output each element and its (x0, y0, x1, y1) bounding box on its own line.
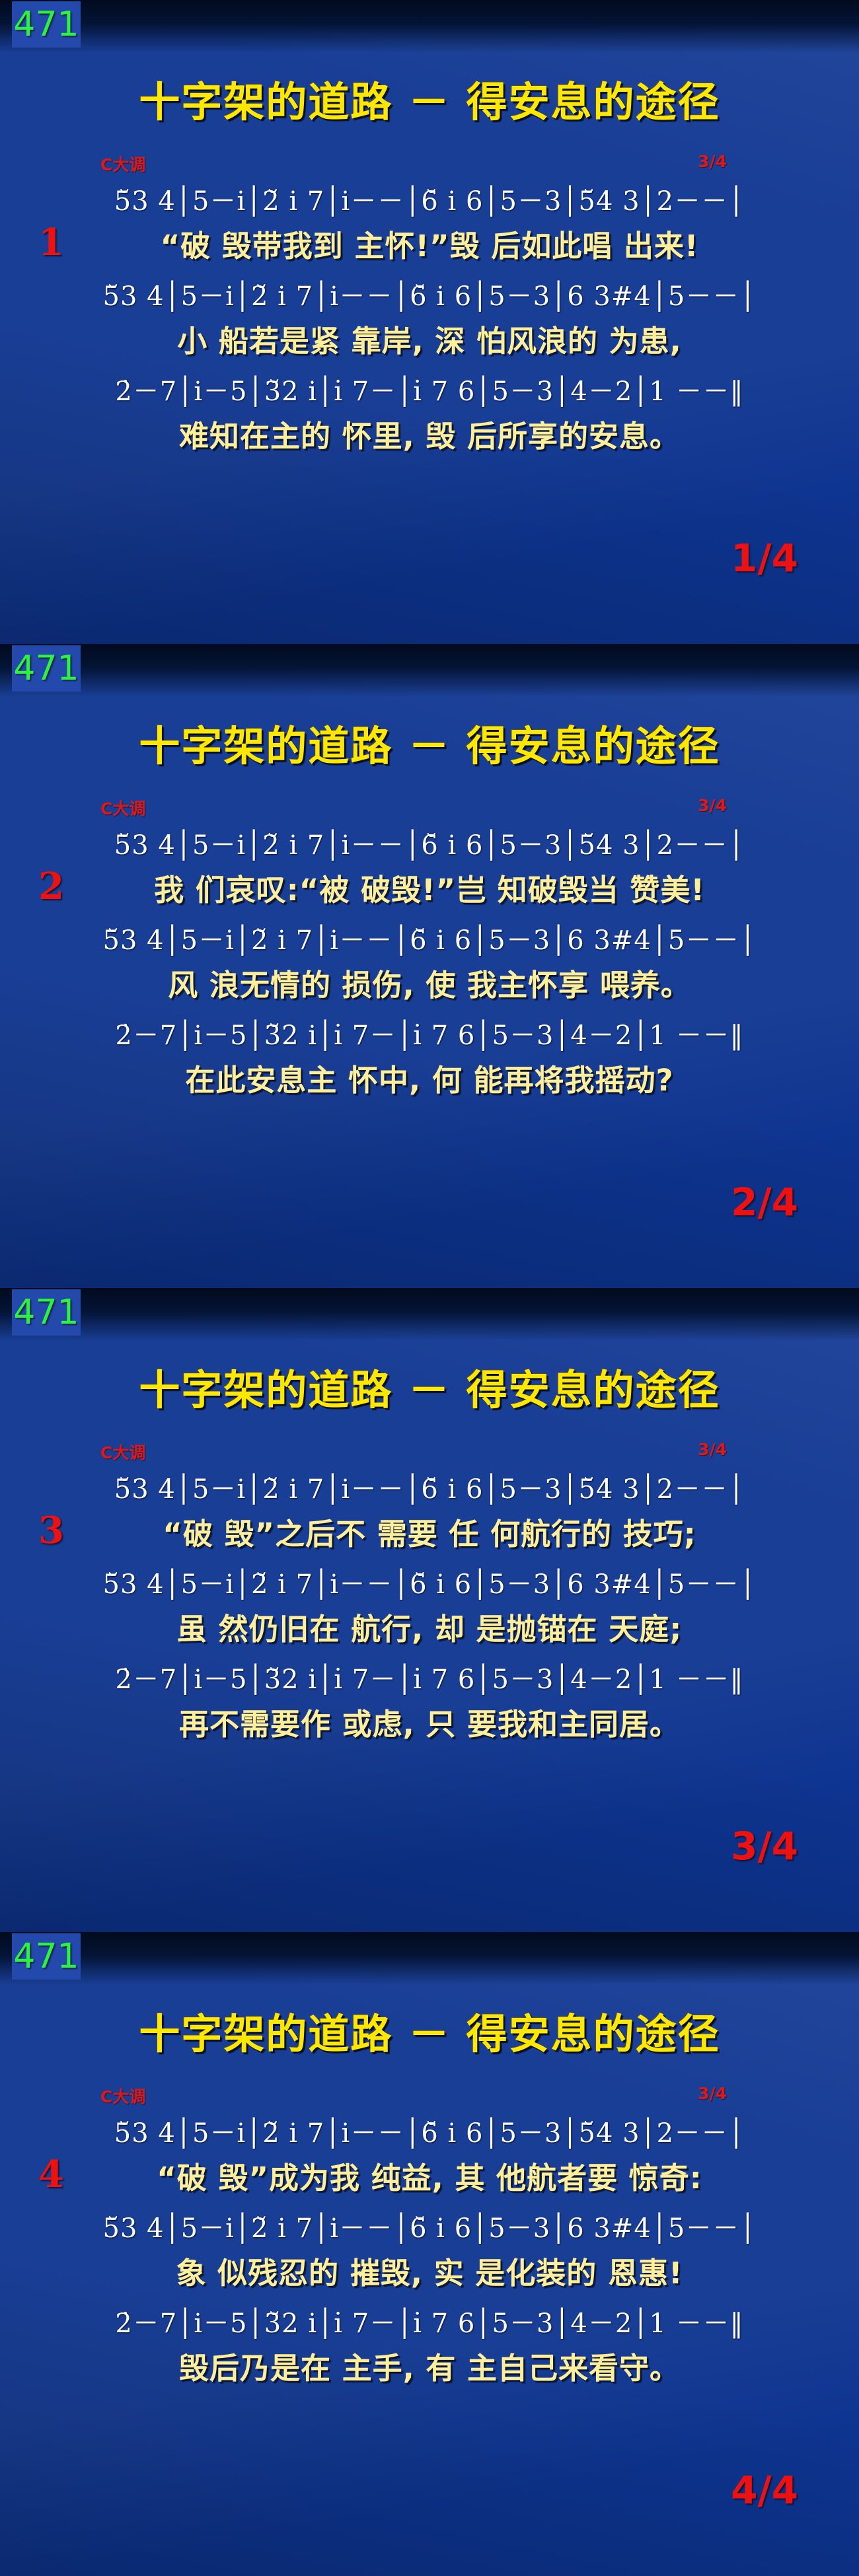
score-meta-row: C大调 3/4 (0, 152, 859, 176)
hymn-number-chip: 471 (12, 645, 81, 692)
notation-text: 5̆3 4│5－i│2̆ i 7│i－－│6̆ i 6│5－3│5̆4 3│2－… (114, 824, 745, 865)
notation-text: 2̇－7│i－5│3̆2 i│i̇ 7－│i̇ 7 6│5－3│4－2│1 －－… (115, 1658, 743, 1699)
time-signature: 3/4 (698, 1440, 727, 1459)
lyric-text: “破 毁带我到 主怀!”毁 后如此唱 出来! (161, 222, 699, 265)
notation-text: 5̆3 4│5－i│2̆ i 7│i－－│6̆ i 6│5－3│6 3#4│5－… (103, 1563, 757, 1604)
notation-text: 5̆3 4│5－i│2̆ i 7│i－－│6̆ i 6│5－3│5̆4 3│2－… (114, 1468, 745, 1509)
page-title: 十字架的道路 － 得安息的途径 (0, 69, 859, 128)
notation-line-3: 2̇－7│i－5│3̆2 i│i̇ 7－│i̇ 7 6│5－3│4－2│1 －－… (0, 370, 859, 411)
lyric-text: 在此安息主 怀中, 何 能再将我摇动? (185, 1056, 673, 1099)
key-signature: C大调 (100, 152, 145, 176)
notation-line-1: 5̆3 4│5－i│2̆ i 7│i－－│6̆ i 6│5－3│5̆4 3│2－… (0, 2112, 859, 2153)
hymn-number-chip: 471 (12, 1289, 81, 1336)
key-signature: C大调 (100, 1440, 145, 1464)
notation-line-1: 5̆3 4│5－i│2̆ i 7│i－－│6̆ i 6│5－3│5̆4 3│2－… (0, 1468, 859, 1509)
hymn-number: 471 (13, 1939, 79, 1974)
page-counter: 3/4 (731, 1824, 798, 1869)
notation-text: 2̇－7│i－5│3̆2 i│i̇ 7－│i̇ 7 6│5－3│4－2│1 －－… (115, 1014, 743, 1055)
lyric-text: 毁后乃是在 主手, 有 主自己来看守。 (179, 2344, 680, 2387)
lyric-text: 小 船若是紧 靠岸, 深 怕风浪的 为患, (177, 317, 682, 360)
notation-line-3: 2̇－7│i－5│3̆2 i│i̇ 7－│i̇ 7 6│5－3│4－2│1 －－… (0, 2302, 859, 2343)
spacer (0, 1649, 859, 1658)
lyric-row-1: 3 “破 毁”之后不 需要 任 何航行的 技巧; (0, 1509, 859, 1554)
lyric-text: 象 似残忍的 摧毁, 实 是化装的 恩惠! (176, 2249, 683, 2292)
lyric-row-3: 再不需要作 或虑, 只 要我和主同居。 (0, 1699, 859, 1744)
spacer (0, 361, 859, 370)
lyric-row-2: 虽 然仍旧在 航行, 却 是抛锚在 天庭; (0, 1604, 859, 1649)
key-signature: C大调 (100, 796, 145, 820)
hymn-number: 471 (13, 1295, 79, 1330)
notation-line-1: 5̆3 4│5－i│2̆ i 7│i－－│6̆ i 6│5－3│5̆4 3│2－… (0, 824, 859, 865)
lyric-text: 再不需要作 或虑, 只 要我和主同居。 (179, 1700, 680, 1743)
spacer (0, 2198, 859, 2207)
lyric-text: 风 浪无情的 损伤, 使 我主怀享 喂养。 (168, 961, 691, 1004)
time-signature: 3/4 (698, 2084, 727, 2103)
notation-text: 5̆3 4│5－i│2̆ i 7│i－－│6̆ i 6│5－3│6 3#4│5－… (103, 919, 757, 960)
score-body: 5̆3 4│5－i│2̆ i 7│i－－│6̆ i 6│5－3│5̆4 3│2－… (0, 1468, 859, 1744)
notation-text: 2̇－7│i－5│3̆2 i│i̇ 7－│i̇ 7 6│5－3│4－2│1 －－… (115, 2302, 743, 2343)
hymn-slide-3: 471 十字架的道路 － 得安息的途径 C大调 3/4 5̆3 4│5－i│2̆… (0, 1288, 859, 1932)
notation-text: 2̇－7│i－5│3̆2 i│i̇ 7－│i̇ 7 6│5－3│4－2│1 －－… (115, 370, 743, 411)
lyric-row-2: 风 浪无情的 损伤, 使 我主怀享 喂养。 (0, 960, 859, 1005)
score-meta-row: C大调 3/4 (0, 1440, 859, 1464)
lyric-row-3: 难知在主的 怀里, 毁 后所享的安息。 (0, 411, 859, 456)
lyric-text: 难知在主的 怀里, 毁 后所享的安息。 (179, 412, 680, 455)
notation-text: 5̆3 4│5－i│2̆ i 7│i－－│6̆ i 6│5－3│6 3#4│5－… (103, 275, 757, 316)
lyric-row-3: 毁后乃是在 主手, 有 主自己来看守。 (0, 2343, 859, 2388)
key-signature: C大调 (100, 2084, 145, 2108)
lyric-row-1: 2 我 们哀叹:“被 破毁!”岂 知破毁当 赞美! (0, 865, 859, 910)
page-title: 十字架的道路 － 得安息的途径 (0, 713, 859, 772)
page-title: 十字架的道路 － 得安息的途径 (0, 2001, 859, 2060)
score-meta-row: C大调 3/4 (0, 2084, 859, 2108)
hymn-number-chip: 471 (12, 1933, 81, 1980)
page-counter: 2/4 (731, 1180, 798, 1225)
time-signature: 3/4 (698, 152, 727, 171)
lyric-row-2: 象 似残忍的 摧毁, 实 是化装的 恩惠! (0, 2248, 859, 2293)
hymn-slide-1: 471 十字架的道路 － 得安息的途径 C大调 3/4 5̆3 4│5－i│2̆… (0, 0, 859, 644)
lyric-row-1: 1 “破 毁带我到 主怀!”毁 后如此唱 出来! (0, 221, 859, 266)
verse-number: 3 (38, 1509, 64, 1552)
hymn-slide-4: 471 十字架的道路 － 得安息的途径 C大调 3/4 5̆3 4│5－i│2̆… (0, 1932, 859, 2576)
hymn-slide-deck: 471 十字架的道路 － 得安息的途径 C大调 3/4 5̆3 4│5－i│2̆… (0, 0, 859, 2576)
hymn-number-chip: 471 (12, 1, 81, 48)
notation-line-2: 5̆3 4│5－i│2̆ i 7│i－－│6̆ i 6│5－3│6 3#4│5－… (0, 1563, 859, 1604)
page-title: 十字架的道路 － 得安息的途径 (0, 1357, 859, 1416)
spacer (0, 910, 859, 919)
verse-number: 1 (38, 221, 64, 264)
verse-number: 4 (38, 2153, 64, 2196)
lyric-row-2: 小 船若是紧 靠岸, 深 怕风浪的 为患, (0, 316, 859, 361)
score-meta-row: C大调 3/4 (0, 796, 859, 820)
lyric-text: “破 毁”成为我 纯益, 其 他航者要 惊奇: (157, 2154, 702, 2197)
time-signature: 3/4 (698, 796, 727, 815)
hymn-number: 471 (13, 651, 79, 686)
lyric-text: 我 们哀叹:“被 破毁!”岂 知破毁当 赞美! (154, 866, 705, 909)
lyric-text: 虽 然仍旧在 航行, 却 是抛锚在 天庭; (177, 1605, 682, 1648)
score-body: 5̆3 4│5－i│2̆ i 7│i－－│6̆ i 6│5－3│5̆4 3│2－… (0, 824, 859, 1100)
hymn-number: 471 (13, 7, 79, 42)
notation-text: 5̆3 4│5－i│2̆ i 7│i－－│6̆ i 6│5－3│5̆4 3│2－… (114, 2112, 745, 2153)
lyric-row-1: 4 “破 毁”成为我 纯益, 其 他航者要 惊奇: (0, 2153, 859, 2198)
notation-line-2: 5̆3 4│5－i│2̆ i 7│i－－│6̆ i 6│5－3│6 3#4│5－… (0, 2207, 859, 2248)
spacer (0, 266, 859, 275)
score-body: 5̆3 4│5－i│2̆ i 7│i－－│6̆ i 6│5－3│5̆4 3│2－… (0, 180, 859, 456)
hymn-slide-2: 471 十字架的道路 － 得安息的途径 C大调 3/4 5̆3 4│5－i│2̆… (0, 644, 859, 1288)
verse-number: 2 (38, 865, 64, 908)
spacer (0, 1554, 859, 1563)
notation-line-2: 5̆3 4│5－i│2̆ i 7│i－－│6̆ i 6│5－3│6 3#4│5－… (0, 275, 859, 316)
notation-text: 5̆3 4│5－i│2̆ i 7│i－－│6̆ i 6│5－3│6 3#4│5－… (103, 2207, 757, 2248)
score-body: 5̆3 4│5－i│2̆ i 7│i－－│6̆ i 6│5－3│5̆4 3│2－… (0, 2112, 859, 2388)
spacer (0, 1005, 859, 1014)
lyric-row-3: 在此安息主 怀中, 何 能再将我摇动? (0, 1055, 859, 1100)
page-counter: 4/4 (731, 2468, 798, 2513)
notation-text: 5̆3 4│5－i│2̆ i 7│i－－│6̆ i 6│5－3│5̆4 3│2－… (114, 180, 745, 221)
notation-line-1: 5̆3 4│5－i│2̆ i 7│i－－│6̆ i 6│5－3│5̆4 3│2－… (0, 180, 859, 221)
spacer (0, 2293, 859, 2302)
notation-line-3: 2̇－7│i－5│3̆2 i│i̇ 7－│i̇ 7 6│5－3│4－2│1 －－… (0, 1014, 859, 1055)
notation-line-2: 5̆3 4│5－i│2̆ i 7│i－－│6̆ i 6│5－3│6 3#4│5－… (0, 919, 859, 960)
notation-line-3: 2̇－7│i－5│3̆2 i│i̇ 7－│i̇ 7 6│5－3│4－2│1 －－… (0, 1658, 859, 1699)
page-counter: 1/4 (731, 536, 798, 581)
lyric-text: “破 毁”之后不 需要 任 何航行的 技巧; (163, 1510, 696, 1553)
